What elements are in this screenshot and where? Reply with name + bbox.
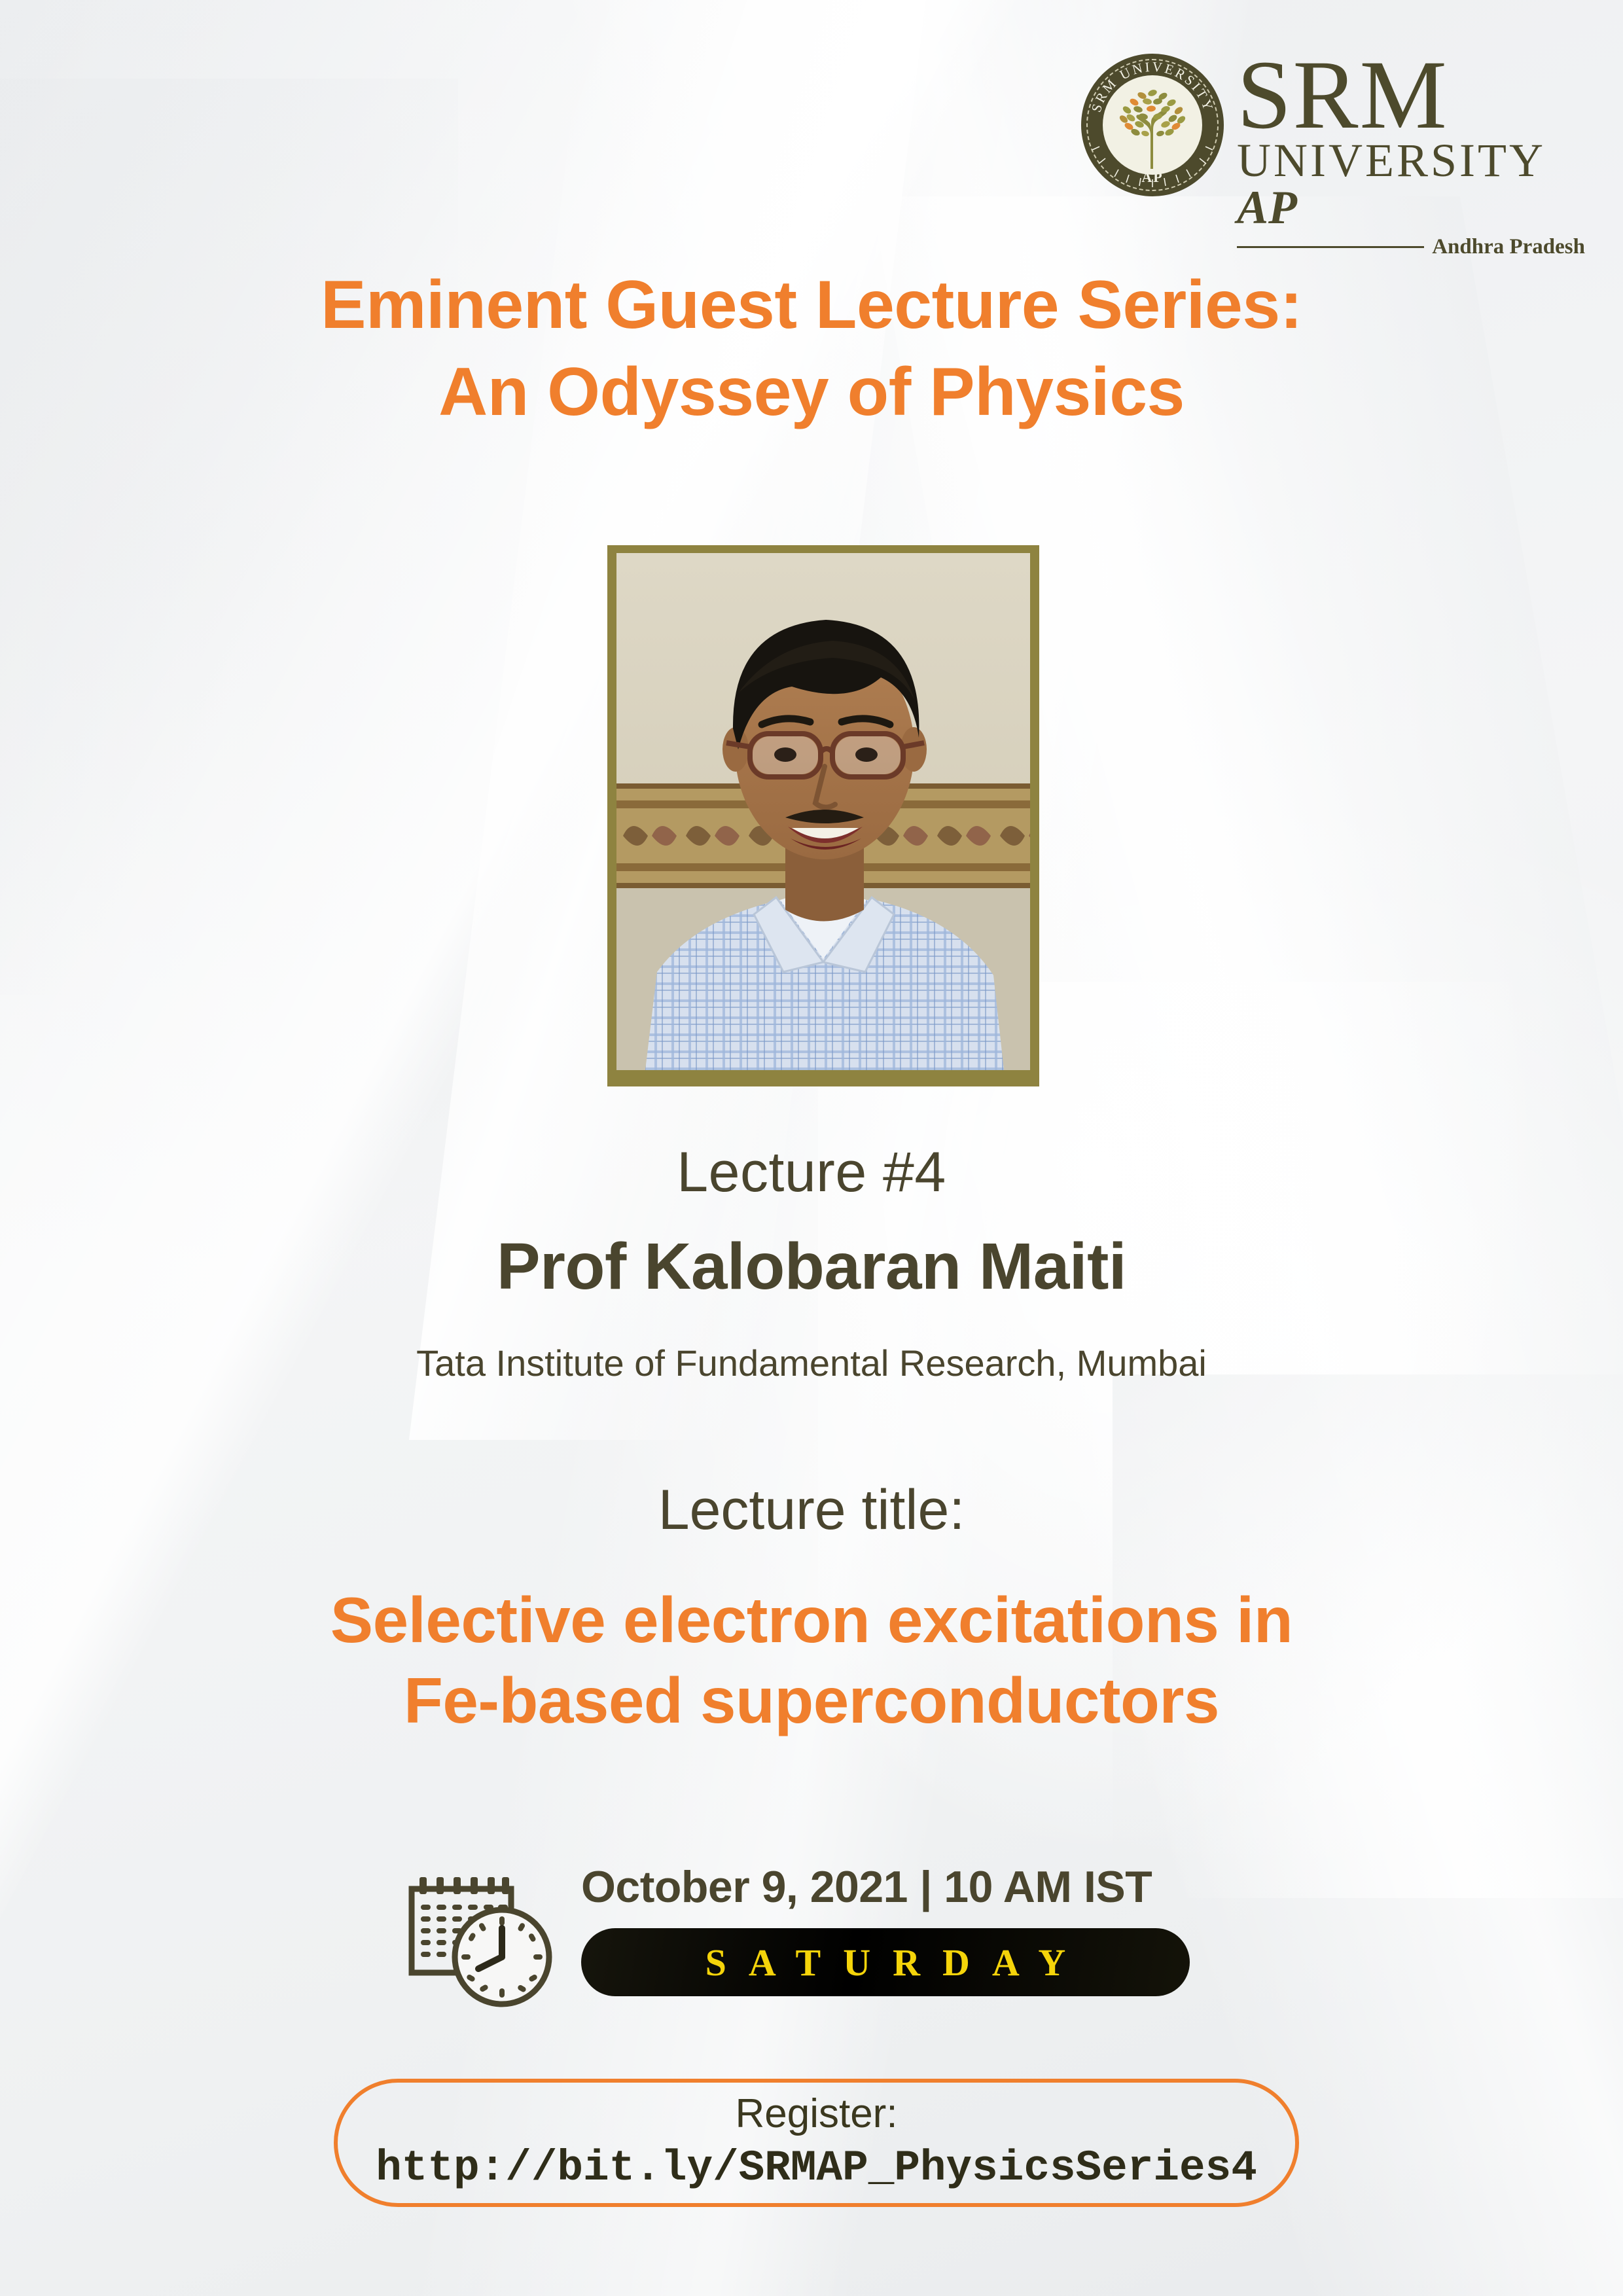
background-facet <box>0 79 458 995</box>
background-facet <box>818 982 1623 1964</box>
lecture-title-label: Lecture title: <box>0 1478 1623 1543</box>
wordmark-university-text: UNIVERSITY <box>1237 134 1544 187</box>
lecture-title: Selective electron excitations in Fe-bas… <box>0 1580 1623 1740</box>
wordmark-srm: SRM <box>1237 47 1585 143</box>
schedule-text-group: October 9, 2021 | 10 AM IST SATURDAY <box>581 1852 1190 1996</box>
day-badge: SATURDAY <box>581 1928 1190 1996</box>
srm-wordmark: SRM UNIVERSITY AP Andhra Pradesh <box>1237 47 1585 259</box>
tree-emblem-icon <box>1109 79 1196 170</box>
series-title: Eminent Guest Lecture Series: An Odyssey… <box>0 262 1623 436</box>
wordmark-university: UNIVERSITY AP <box>1237 137 1585 231</box>
poster-canvas: SRM UNIVERSITY <box>0 0 1623 2296</box>
schedule-block: October 9, 2021 | 10 AM IST SATURDAY <box>402 1852 1227 2011</box>
srm-seal-emblem: SRM UNIVERSITY <box>1081 54 1224 196</box>
series-title-line-1: Eminent Guest Lecture Series: <box>0 262 1623 349</box>
lecture-title-line-2: Fe-based superconductors <box>0 1660 1623 1741</box>
srm-university-logo: SRM UNIVERSITY <box>1081 47 1585 237</box>
lecture-number: Lecture #4 <box>0 1140 1623 1205</box>
day-badge-label: SATURDAY <box>683 1941 1088 1984</box>
speaker-affiliation: Tata Institute of Fundamental Research, … <box>0 1342 1623 1384</box>
wordmark-tagline: Andhra Pradesh <box>1432 235 1585 259</box>
tagline-rule <box>1237 246 1424 248</box>
register-url-link[interactable]: http://bit.ly/SRMAP_PhysicsSeries4 <box>376 2144 1257 2193</box>
register-label: Register: <box>735 2094 897 2134</box>
wordmark-tagline-row: Andhra Pradesh <box>1237 235 1585 259</box>
series-title-line-2: An Odyssey of Physics <box>0 349 1623 436</box>
speaker-name: Prof Kalobaran Maiti <box>0 1229 1623 1304</box>
event-date-time: October 9, 2021 | 10 AM IST <box>581 1861 1190 1912</box>
speaker-photo <box>616 553 1030 1070</box>
registration-box[interactable]: Register: http://bit.ly/SRMAP_PhysicsSer… <box>334 2079 1299 2207</box>
speaker-portrait-illustration <box>616 553 1030 1070</box>
seal-ap-text: AP <box>1081 169 1224 186</box>
speaker-photo-frame <box>607 545 1039 1086</box>
lecture-title-line-1: Selective electron excitations in <box>0 1580 1623 1660</box>
calendar-clock-icon <box>402 1857 556 2011</box>
wordmark-ap-text: AP <box>1237 181 1297 234</box>
